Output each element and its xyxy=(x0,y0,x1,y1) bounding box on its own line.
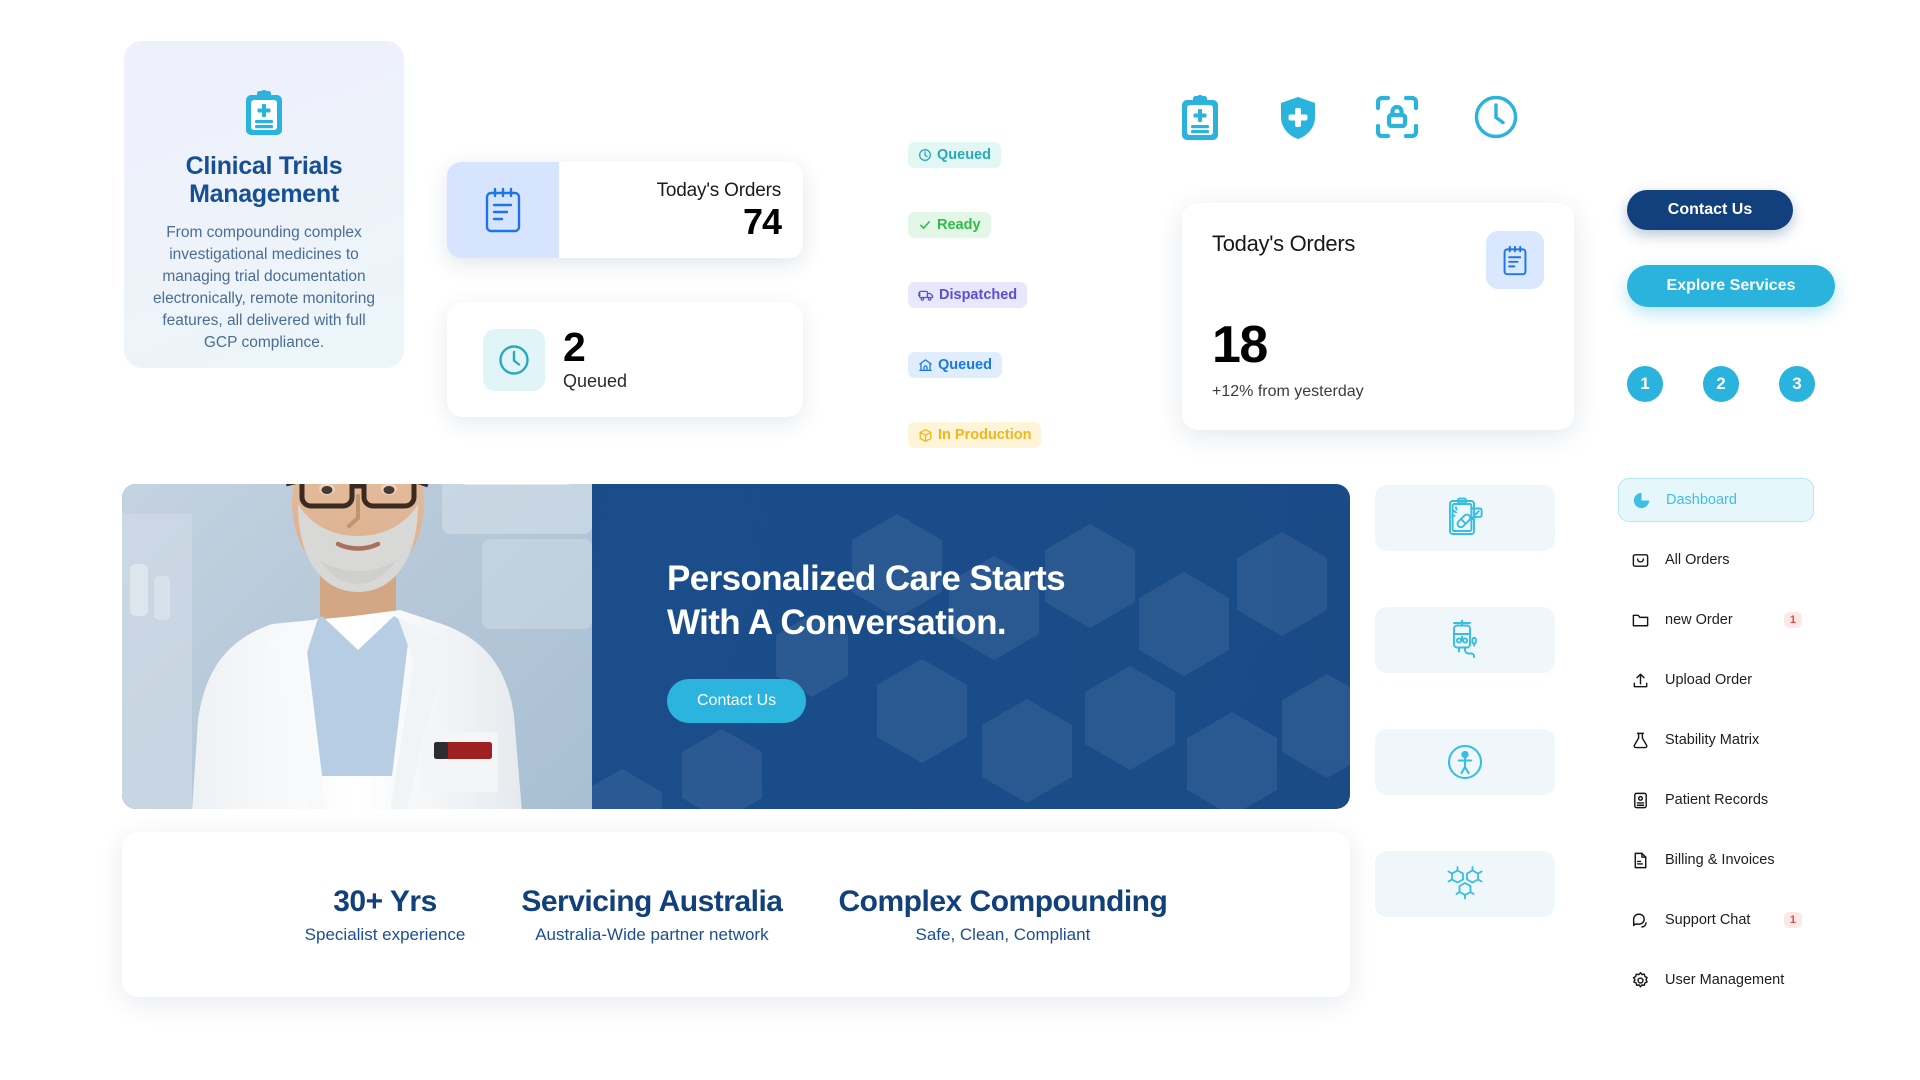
sidebar-item-label: Stability Matrix xyxy=(1665,732,1759,748)
header-icon-strip xyxy=(1178,94,1519,142)
chip-label: In Production xyxy=(938,427,1031,443)
hero-text-block: Personalized Care Starts With A Conversa… xyxy=(667,557,1065,723)
hero-banner: Personalized Care Starts With A Conversa… xyxy=(122,484,1350,809)
orders-card-value: 18 xyxy=(1212,319,1544,371)
truck-icon xyxy=(918,288,934,302)
sidebar-item-patient-records[interactable]: Patient Records xyxy=(1618,778,1814,822)
sidebar-item-label: new Order xyxy=(1665,612,1733,628)
sidebar-item-dashboard[interactable]: Dashboard xyxy=(1618,478,1814,522)
check-icon xyxy=(918,218,932,232)
todays-orders-kpi-card[interactable]: Today's Orders 74 xyxy=(447,162,803,258)
pharmacist-photo xyxy=(122,484,592,809)
sidebar-item-label: Support Chat xyxy=(1665,912,1750,928)
bank-icon xyxy=(918,358,933,373)
orders-card-icon-tile xyxy=(1486,231,1544,289)
sidebar-item-support-chat[interactable]: Support Chat 1 xyxy=(1618,898,1814,942)
flask-icon xyxy=(1630,730,1651,751)
clock-icon xyxy=(496,342,532,378)
kpi-value: 74 xyxy=(743,204,781,240)
clock-icon xyxy=(918,148,932,162)
step-3[interactable]: 3 xyxy=(1779,366,1815,402)
sidebar-item-label: All Orders xyxy=(1665,552,1729,568)
stat-label: Australia-Wide partner network xyxy=(521,925,782,945)
id-card-icon xyxy=(1630,790,1651,811)
kpi-label: Today's Orders xyxy=(657,180,781,202)
inbox-icon xyxy=(1630,550,1651,571)
sidebar-item-label: User Management xyxy=(1665,972,1784,988)
clipboard-pill-check-icon xyxy=(1443,496,1487,540)
hero-heading-line-2: With A Conversation. xyxy=(667,603,1006,642)
clock-icon xyxy=(1473,94,1519,140)
queued-label: Queued xyxy=(563,371,627,392)
clinical-trials-body: From compounding complex investigational… xyxy=(146,222,382,354)
explore-services-button[interactable]: Explore Services xyxy=(1627,265,1835,307)
tile-person-circle[interactable] xyxy=(1375,729,1555,795)
stat-item-experience: 30+ Yrs Specialist experience xyxy=(277,885,494,945)
step-2[interactable]: 2 xyxy=(1703,366,1739,402)
stat-item-compounding: Complex Compounding Safe, Clean, Complia… xyxy=(811,885,1196,945)
sidebar-item-label: Dashboard xyxy=(1666,492,1737,508)
chip-label: Queued xyxy=(938,357,992,373)
orders-summary-card[interactable]: Today's Orders 18 +12% from yesterday xyxy=(1182,203,1574,430)
lock-scan-icon xyxy=(1374,94,1420,140)
sidebar-item-user-management[interactable]: User Management xyxy=(1618,958,1814,1002)
stat-value: 30+ Yrs xyxy=(305,885,466,919)
sidebar-item-label: Patient Records xyxy=(1665,792,1768,808)
chat-icon xyxy=(1630,910,1651,931)
box-icon xyxy=(918,428,933,443)
page-root: Clinical Trials Management From compound… xyxy=(0,0,1920,1080)
stat-value: Complex Compounding xyxy=(839,885,1168,919)
kpi-body: Today's Orders 74 xyxy=(559,162,803,258)
chip-row: Queued xyxy=(908,352,1118,422)
chip-row: Dispatched xyxy=(908,282,1118,352)
sidebar-badge-new-order: 1 xyxy=(1784,612,1802,628)
chip-label: Dispatched xyxy=(939,287,1017,303)
status-chip-queued-1[interactable]: Queued xyxy=(908,142,1001,168)
clipboard-lines-icon xyxy=(480,185,526,235)
folder-icon xyxy=(1630,610,1651,631)
pie-chart-icon xyxy=(1631,490,1652,511)
sidebar-badge-support-chat: 1 xyxy=(1784,912,1802,928)
title-line-2: Management xyxy=(189,180,339,208)
hero-contact-us-button[interactable]: Contact Us xyxy=(667,679,806,723)
sidebar-item-label: Billing & Invoices xyxy=(1665,852,1775,868)
queued-value: 2 xyxy=(563,327,627,367)
status-chip-dispatched[interactable]: Dispatched xyxy=(908,282,1027,308)
hero-heading: Personalized Care Starts With A Conversa… xyxy=(667,557,1065,646)
iv-bag-icon xyxy=(1443,618,1487,662)
queued-text: 2 Queued xyxy=(563,327,627,391)
person-circle-icon xyxy=(1444,741,1486,783)
queued-icon-tile xyxy=(483,329,545,391)
chip-label: Queued xyxy=(937,147,991,163)
kpi-icon-panel xyxy=(447,162,559,258)
clipboard-medical-icon xyxy=(242,89,286,137)
upload-icon xyxy=(1630,670,1651,691)
chip-row: Ready xyxy=(908,212,1118,282)
feature-tile-column xyxy=(1375,485,1555,973)
hero-heading-line-1: Personalized Care Starts xyxy=(667,559,1065,598)
title-line-1: Clinical Trials xyxy=(186,152,343,180)
tile-iv-bag[interactable] xyxy=(1375,607,1555,673)
orders-card-delta: +12% from yesterday xyxy=(1212,383,1544,401)
status-chip-queued-2[interactable]: Queued xyxy=(908,352,1002,378)
clipboard-medical-icon xyxy=(1178,94,1222,142)
molecule-icon xyxy=(1443,862,1487,906)
step-indicator: 1 2 3 xyxy=(1627,366,1815,402)
step-1[interactable]: 1 xyxy=(1627,366,1663,402)
shield-plus-icon xyxy=(1275,94,1321,142)
chip-label: Ready xyxy=(937,217,981,233)
stat-item-coverage: Servicing Australia Australia-Wide partn… xyxy=(493,885,810,945)
clinical-trials-title: Clinical Trials Management xyxy=(146,153,382,208)
document-icon xyxy=(1630,850,1651,871)
stat-value: Servicing Australia xyxy=(521,885,782,919)
stat-label: Safe, Clean, Compliant xyxy=(839,925,1168,945)
sidebar-nav: Dashboard All Orders new Order 1 Upload … xyxy=(1618,478,1814,1018)
chip-row: In Production xyxy=(908,422,1118,492)
chip-row: Queued xyxy=(908,142,1118,212)
stats-bar: 30+ Yrs Specialist experience Servicing … xyxy=(122,832,1350,997)
sidebar-item-upload-order[interactable]: Upload Order xyxy=(1618,658,1814,702)
stat-label: Specialist experience xyxy=(305,925,466,945)
orders-card-title: Today's Orders xyxy=(1212,231,1355,257)
status-chip-list: Queued Ready Dispatched Queued In Pr xyxy=(908,142,1118,492)
clipboard-lines-icon xyxy=(1500,244,1530,277)
status-chip-ready[interactable]: Ready xyxy=(908,212,991,238)
tile-clipboard-pill-check[interactable] xyxy=(1375,485,1555,551)
status-chip-in-production[interactable]: In Production xyxy=(908,422,1041,448)
tile-molecule[interactable] xyxy=(1375,851,1555,917)
sidebar-item-all-orders[interactable]: All Orders xyxy=(1618,538,1814,582)
orders-card-header: Today's Orders xyxy=(1212,231,1544,289)
sidebar-item-new-order[interactable]: new Order 1 xyxy=(1618,598,1814,642)
sidebar-item-label: Upload Order xyxy=(1665,672,1752,688)
contact-us-button[interactable]: Contact Us xyxy=(1627,190,1793,230)
sidebar-item-billing-invoices[interactable]: Billing & Invoices xyxy=(1618,838,1814,882)
sidebar-item-stability-matrix[interactable]: Stability Matrix xyxy=(1618,718,1814,762)
gear-icon xyxy=(1630,970,1651,991)
clinical-trials-card: Clinical Trials Management From compound… xyxy=(124,41,404,368)
queued-kpi-card[interactable]: 2 Queued xyxy=(447,302,803,417)
